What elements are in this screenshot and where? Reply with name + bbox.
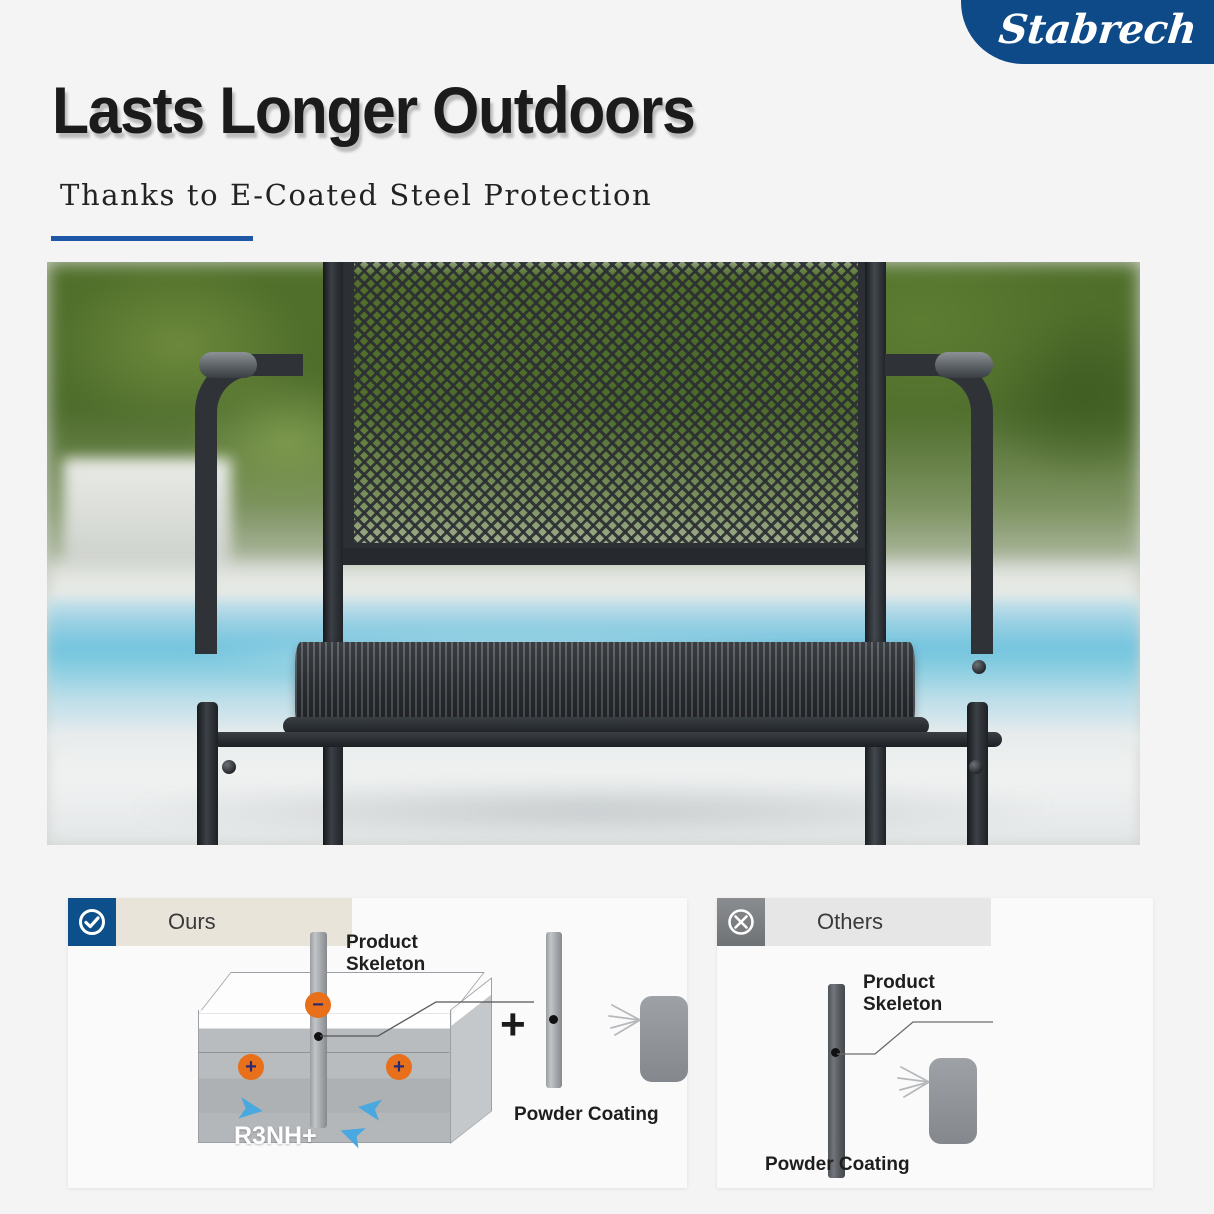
leader-anchor-dot bbox=[549, 1015, 558, 1024]
chair-mesh-backrest bbox=[341, 262, 871, 556]
others-leader-line bbox=[835, 1016, 995, 1058]
chair-armrest-cap-left bbox=[199, 352, 257, 378]
chair-bolt bbox=[972, 660, 986, 674]
chair-bolt bbox=[969, 760, 983, 774]
others-header: Others bbox=[717, 898, 991, 946]
chair-armrest-left bbox=[195, 354, 303, 654]
photo-chair-shadow bbox=[134, 782, 1052, 838]
others-product-skeleton-rod bbox=[828, 984, 845, 1178]
chair-post-left bbox=[323, 262, 343, 845]
chair-bolt bbox=[222, 760, 236, 774]
chair-cross-rail bbox=[212, 732, 1002, 747]
product-skeleton-rod-coating bbox=[546, 932, 562, 1088]
chair-armrest-cap-right bbox=[935, 352, 993, 378]
page-subtitle: Thanks to E-Coated Steel Protection bbox=[60, 178, 652, 212]
spray-gun-icon bbox=[640, 996, 688, 1082]
chair-back-rail bbox=[335, 548, 877, 565]
electrolyte-label: R3NH+ bbox=[234, 1122, 317, 1151]
anode-ion-right: + bbox=[386, 1054, 412, 1080]
spray-mist-icon bbox=[608, 1002, 642, 1038]
accent-underline bbox=[51, 236, 253, 241]
spray-mist-icon bbox=[897, 1064, 931, 1100]
anode-ion-left: + bbox=[238, 1054, 264, 1080]
others-product-skeleton-label: Product Skeleton bbox=[863, 972, 942, 1017]
chair-armrest-right bbox=[885, 354, 993, 654]
ours-product-skeleton-label: Product Skeleton bbox=[346, 932, 425, 977]
page-title: Lasts Longer Outdoors bbox=[52, 76, 694, 145]
chair-post-right bbox=[865, 262, 886, 845]
comparison-card-others: Others Product Skeleton Powder Coating bbox=[717, 898, 1153, 1188]
ours-powder-coating-label: Powder Coating bbox=[514, 1104, 659, 1126]
others-label: Others bbox=[765, 898, 991, 946]
chair-leg-left bbox=[197, 702, 218, 845]
check-circle-icon bbox=[68, 898, 116, 946]
comparison-card-ours: Ours + + ➤ ➤ ➤ R3NH+ − Product Skeleton … bbox=[68, 898, 687, 1188]
spray-gun-icon bbox=[929, 1058, 977, 1144]
brand-logo-badge: Stabrech bbox=[961, 0, 1214, 64]
combine-plus-symbol: + bbox=[500, 1000, 526, 1050]
others-powder-coating-label: Powder Coating bbox=[765, 1154, 910, 1176]
x-circle-icon bbox=[717, 898, 765, 946]
hero-product-photo bbox=[47, 262, 1140, 845]
brand-logo-text: Stabrech bbox=[997, 6, 1199, 53]
